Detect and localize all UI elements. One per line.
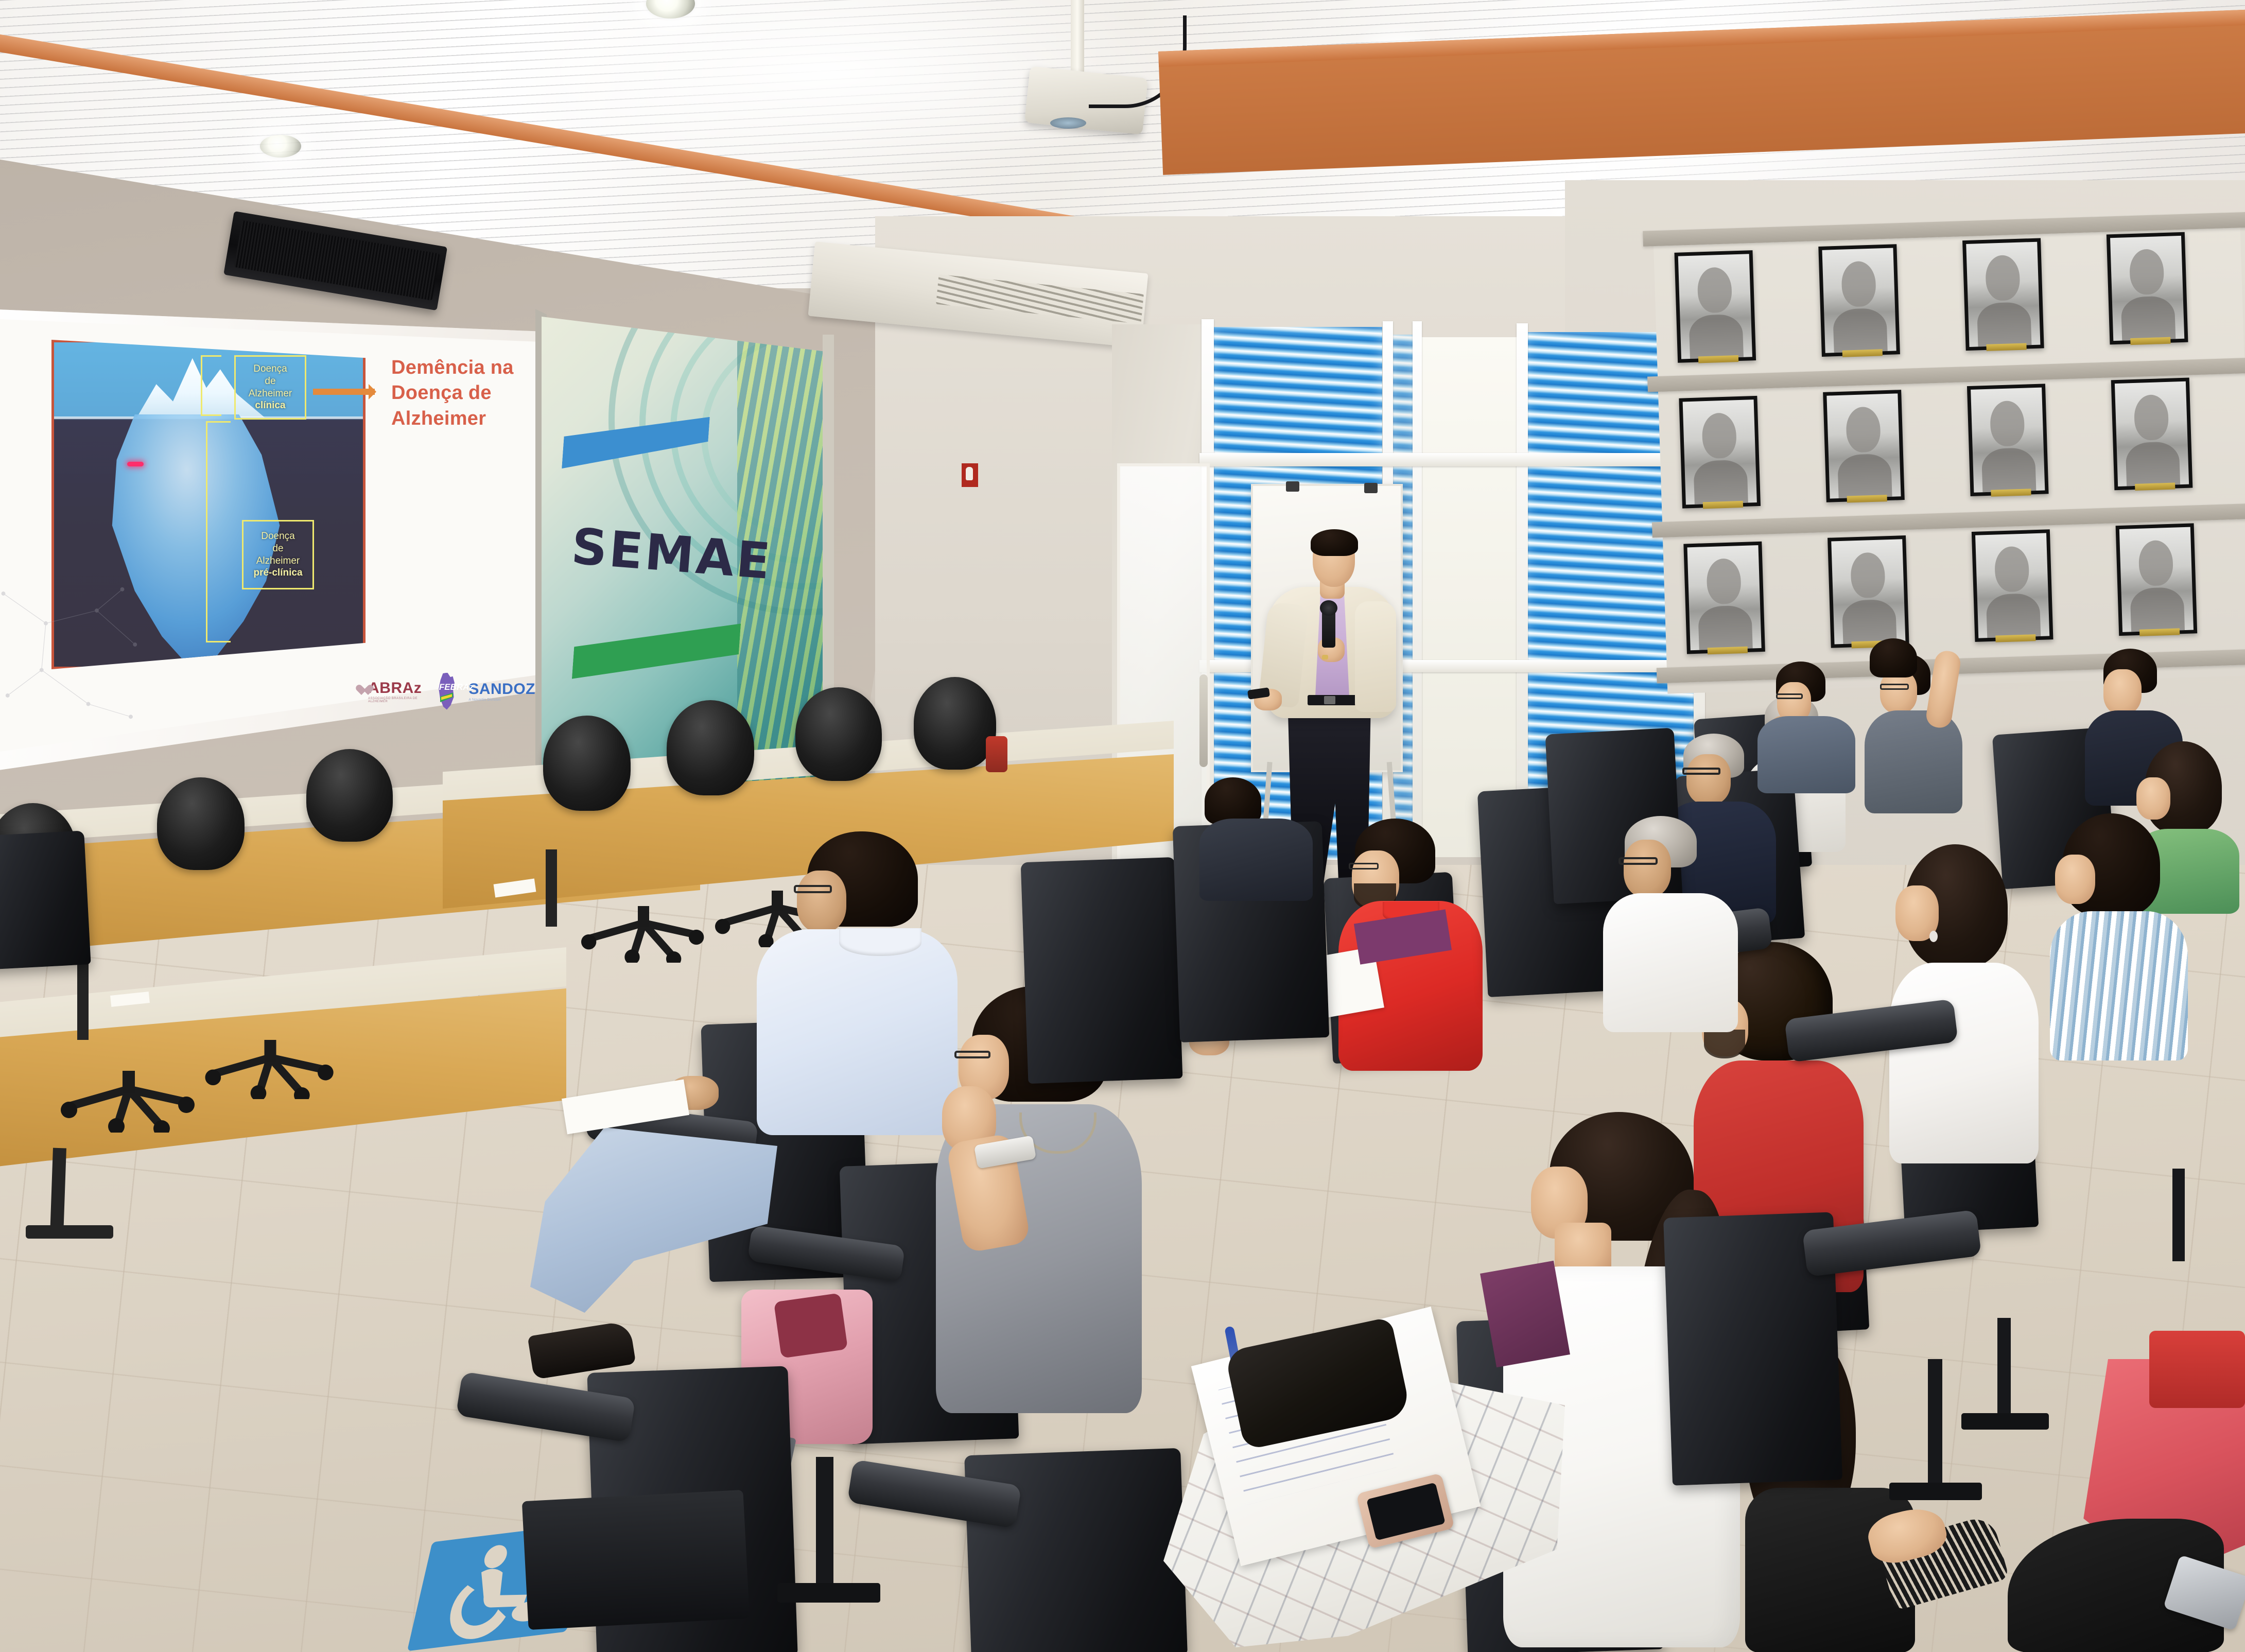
face — [797, 871, 846, 932]
handbag-detail-burgundy — [774, 1293, 848, 1358]
portrait-frame — [1962, 238, 2044, 351]
attendee-man-blue-shirt-back — [1755, 662, 1864, 795]
table-leg — [77, 952, 89, 1040]
auditorium-seat[interactable] — [0, 830, 91, 971]
slide-title: Demência na Doença de Alzheimer — [391, 355, 535, 431]
window-mullion-vertical — [1517, 323, 1528, 868]
torso — [1757, 716, 1855, 793]
seat-foot — [777, 1583, 880, 1603]
swivel-chair-back[interactable] — [543, 716, 631, 811]
swivel-chair-back[interactable] — [157, 777, 245, 870]
logo-febraz: FEBRAz — [438, 673, 455, 710]
projector-mount-pole — [1071, 0, 1084, 77]
attendee-back-left-pair — [1199, 772, 1318, 901]
portrait-frame — [1823, 390, 1905, 502]
seat-post — [1928, 1359, 1942, 1493]
preclinical-line-1: Doença — [261, 530, 295, 543]
auditorium-seat-base[interactable] — [522, 1490, 750, 1630]
swivel-chair-back[interactable] — [914, 677, 996, 770]
portrait-frame — [1683, 542, 1765, 654]
chair-wheelbase — [57, 1071, 201, 1133]
conference-room-photo: Doença de Alzheimer clínica Doença de Al… — [0, 0, 2245, 1652]
logo-abraz: ABRAz ASSOCIAÇÃO BRASILEIRA DE ALZHEIMER — [355, 680, 424, 703]
hair — [1205, 777, 1261, 825]
torso — [1603, 893, 1738, 1032]
portrait-nameplate — [1708, 647, 1748, 654]
heart-icon — [355, 685, 366, 698]
swivel-chair-back[interactable] — [667, 700, 754, 795]
portrait-frame — [2107, 232, 2188, 345]
eyeglasses-icon — [1682, 768, 1720, 775]
slide-title-line-3: Alzheimer — [391, 406, 535, 431]
projector-lens — [1050, 117, 1086, 129]
preclinical-emphasis: pré-clínica — [253, 567, 302, 579]
portrait-nameplate — [2130, 337, 2170, 345]
fire-extinguisher-sign — [962, 463, 978, 487]
portrait-frame — [2116, 523, 2198, 636]
portrait-photo-wall — [1653, 212, 2245, 693]
slide-sponsor-logos: ABRAz ASSOCIAÇÃO BRASILEIRA DE ALZHEIMER… — [355, 667, 535, 716]
portrait-photo — [1971, 388, 2045, 493]
eyeglasses-icon — [1776, 693, 1803, 699]
clinical-emphasis: clínica — [255, 399, 285, 412]
portrait-photo — [1966, 242, 2040, 347]
auditorium-seat[interactable] — [1021, 857, 1183, 1084]
portrait-photo — [1975, 533, 2049, 638]
swivel-chair-back[interactable] — [795, 687, 882, 781]
face — [1624, 840, 1671, 897]
portrait-nameplate — [1986, 343, 2026, 351]
clinical-line-2: de — [265, 375, 275, 388]
portrait-frame — [2111, 378, 2193, 491]
network-decoration — [0, 577, 165, 746]
abraz-sub: ASSOCIAÇÃO BRASILEIRA DE ALZHEIMER — [368, 697, 424, 703]
portrait-photo — [2119, 527, 2194, 632]
brace-preclinical — [206, 421, 231, 642]
portrait-nameplate — [1847, 495, 1887, 502]
eyeglasses-icon — [954, 1051, 990, 1058]
brace-clinical — [201, 355, 221, 416]
portrait-nameplate — [2139, 628, 2180, 636]
swivel-chair-back[interactable] — [306, 749, 393, 842]
portrait-nameplate — [1842, 349, 1883, 357]
hair — [1870, 638, 1917, 677]
febraz-label: FEBRAz — [439, 682, 474, 692]
face — [1686, 754, 1731, 805]
belt-buckle-icon — [1324, 696, 1335, 704]
seat-post — [1997, 1318, 2011, 1421]
presenter-hair — [1311, 529, 1358, 556]
torso — [2050, 911, 2188, 1060]
portrait-frame — [1675, 250, 1756, 363]
chair-wheelbase — [577, 906, 710, 963]
preclinical-line-3: Alzheimer — [256, 555, 300, 567]
portrait-frame — [1818, 244, 1900, 357]
face — [2055, 855, 2095, 904]
portrait-nameplate — [1991, 489, 2031, 496]
auditorium-seat[interactable] — [964, 1448, 1188, 1652]
table-leg — [26, 1225, 113, 1239]
slide-label-preclinical: Doença de Alzheimer pré-clínica — [242, 520, 314, 589]
portrait-photo — [1826, 393, 1901, 498]
fire-extinguisher — [986, 736, 1007, 772]
slide-title-line-1: Demência na — [391, 355, 535, 380]
eyeglasses-icon — [794, 885, 832, 893]
attendee-woman-striped-tank — [2039, 813, 2193, 1060]
portrait-nameplate — [1698, 355, 1738, 363]
door-handle[interactable] — [1199, 674, 1208, 767]
portrait-photo — [1683, 399, 1757, 505]
seat-foot — [1961, 1413, 2049, 1430]
earring-icon — [1929, 931, 1938, 942]
chair-wheelbase — [201, 1040, 340, 1099]
preclinical-line-2: de — [272, 543, 283, 555]
attendee-pink-torso-red — [2149, 1331, 2245, 1408]
seat-post — [816, 1457, 833, 1591]
portrait-photo — [2110, 236, 2184, 341]
torso — [1199, 819, 1313, 901]
beard — [1704, 1030, 1745, 1058]
portrait-nameplate — [1703, 501, 1743, 509]
flipchart-clip — [1364, 483, 1378, 493]
slide-arrow-icon — [313, 389, 375, 395]
presenter-arm-right — [1355, 601, 1396, 712]
attendee-man-white-shirt — [1596, 816, 1745, 1032]
window-daylight-pane — [1421, 337, 1519, 857]
portrait-photo — [1687, 545, 1762, 650]
sandoz-label: SANDOZ — [468, 681, 535, 698]
seat-post — [2172, 1169, 2185, 1261]
portrait-frame — [1679, 396, 1761, 509]
portrait-frame — [1972, 529, 2053, 642]
clinical-line-3: Alzheimer — [249, 388, 292, 400]
flipchart-clip — [1286, 481, 1299, 492]
eyeglasses-icon — [1349, 863, 1379, 870]
slide-title-line-2: Doença de — [391, 380, 535, 406]
portrait-photo — [1822, 248, 1896, 353]
portrait-frame — [1828, 535, 1909, 648]
portrait-frame — [1967, 384, 2049, 496]
logo-sandoz: SANDOZ A Novartis Division — [468, 681, 535, 702]
portrait-photo — [1831, 539, 1905, 644]
face — [2103, 669, 2142, 715]
abraz-label: ABRAz — [368, 680, 422, 697]
window-transom-upper — [1199, 453, 1709, 466]
seat-foot — [1889, 1483, 1982, 1500]
laser-pointer-dot — [127, 462, 144, 466]
portrait-photo — [1678, 254, 1752, 359]
microphone-head-icon — [1320, 600, 1337, 616]
portrait-nameplate — [1995, 634, 2035, 642]
portrait-nameplate — [2135, 483, 2175, 491]
torso — [1889, 963, 2039, 1163]
attendee-woman-white-tee — [1874, 844, 2049, 1163]
slide-label-clinical: Doença de Alzheimer clínica — [234, 355, 306, 420]
sandoz-sub: A Novartis Division — [468, 698, 535, 702]
wedding-ring-icon — [1322, 655, 1328, 659]
clinical-line-1: Doença — [253, 363, 287, 375]
eyeglasses-icon — [1619, 857, 1658, 865]
portrait-photo — [2115, 381, 2189, 486]
table-leg — [546, 849, 557, 927]
shirt-collar — [839, 928, 921, 956]
